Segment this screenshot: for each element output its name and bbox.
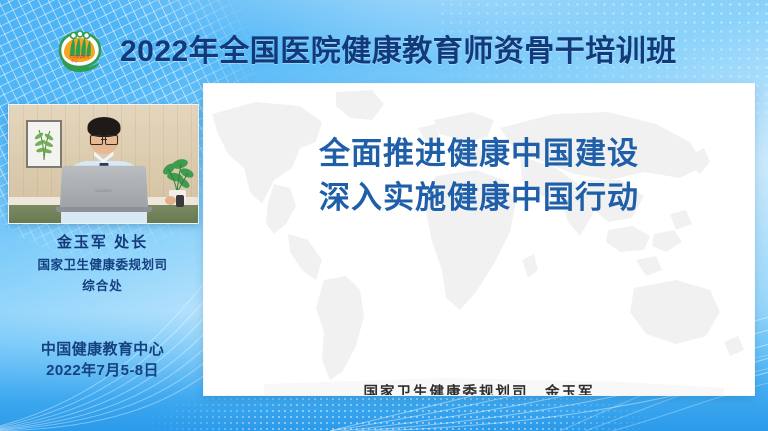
world-map-watermark bbox=[204, 84, 754, 395]
page-title: 2022年全国医院健康教育师资骨干培训班 bbox=[120, 22, 720, 74]
slide-title-line-2: 深入实施健康中国行动 bbox=[204, 176, 754, 220]
organizer-dates: 2022年7月5-8日 bbox=[0, 360, 205, 381]
slide-content[interactable]: 全面推进健康中国建设 深入实施健康中国行动 国家卫生健康委规划司 金玉军 bbox=[204, 84, 754, 395]
slide-byline: 国家卫生健康委规划司 金玉军 bbox=[204, 381, 754, 395]
speaker-info: 金玉军 处长 国家卫生健康委规划司 综合处 bbox=[0, 232, 205, 298]
health-education-center-logo: 中国健康教育 中心 bbox=[50, 26, 106, 74]
speaker-name: 金玉军 处长 bbox=[0, 232, 205, 255]
potted-plant-icon bbox=[160, 153, 194, 193]
presenter-remote-icon bbox=[176, 195, 184, 207]
framed-leaf-picture-icon bbox=[26, 120, 62, 168]
organizer-info: 中国健康教育中心 2022年7月5-8日 bbox=[0, 339, 205, 382]
presentation-screen: 中国健康教育 中心 2022年全国医院健康教育师资骨干培训班 bbox=[0, 0, 768, 431]
laptop-base bbox=[56, 207, 152, 212]
header-bar: 中国健康教育 中心 2022年全国医院健康教育师资骨干培训班 bbox=[0, 0, 768, 86]
speaker-organization: 国家卫生健康委规划司 bbox=[0, 255, 205, 277]
organizer-center: 中国健康教育中心 bbox=[0, 339, 205, 360]
glasses-icon bbox=[90, 135, 118, 143]
laptop-icon: HUAWEI bbox=[59, 166, 148, 210]
speaker-hand bbox=[165, 196, 176, 205]
speaker-hair bbox=[87, 117, 120, 137]
svg-text:中心: 中心 bbox=[71, 58, 78, 63]
speaker-department: 综合处 bbox=[0, 276, 205, 298]
speaker-video[interactable]: HUAWEI bbox=[8, 104, 199, 224]
laptop-brand-mark: HUAWEI bbox=[95, 189, 112, 193]
slide-title: 全面推进健康中国建设 深入实施健康中国行动 bbox=[204, 132, 754, 220]
slide-title-line-1: 全面推进健康中国建设 bbox=[204, 132, 754, 176]
